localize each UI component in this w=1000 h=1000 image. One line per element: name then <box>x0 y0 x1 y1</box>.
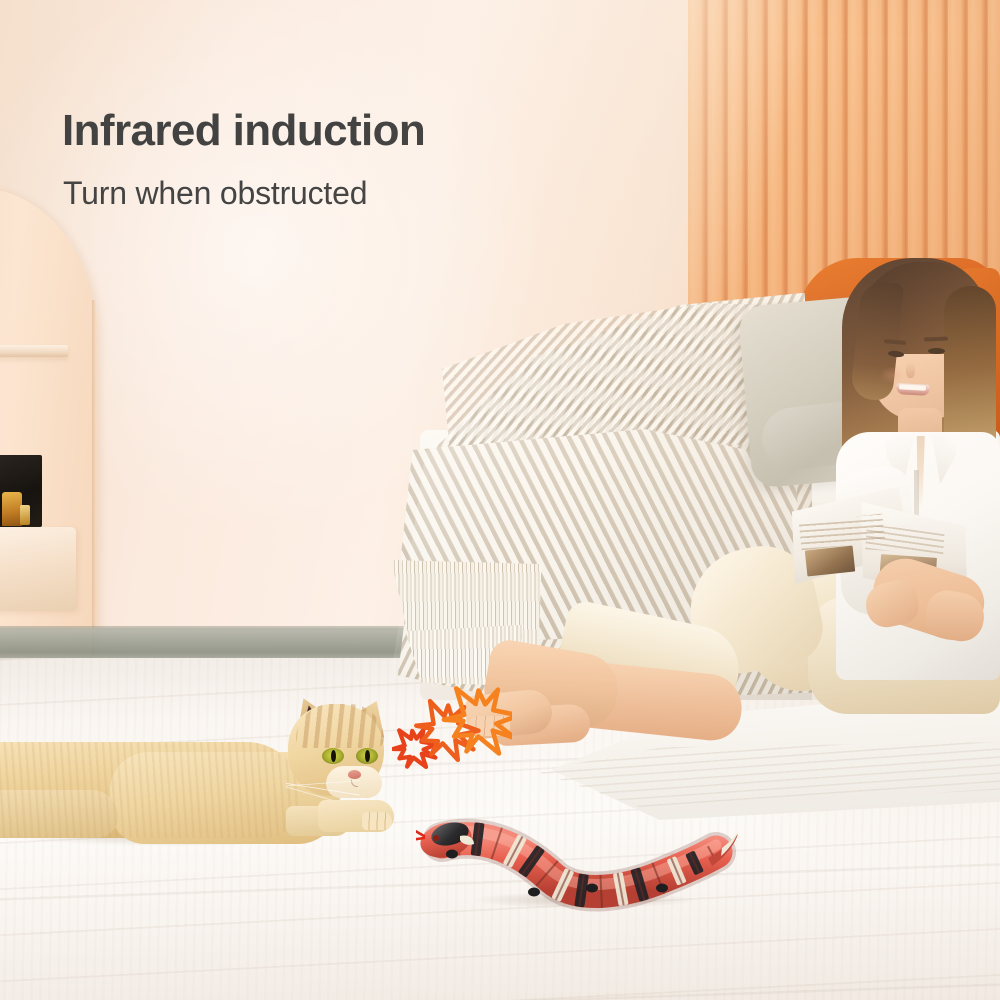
snake-eye <box>433 835 439 841</box>
page-subtitle: Turn when obstructed <box>63 175 367 212</box>
burst-large <box>442 686 512 756</box>
woman-eye-right <box>928 348 945 354</box>
niche-decor-object <box>2 492 22 526</box>
snake-toy-graphic <box>416 796 746 926</box>
magazine-photo-left <box>805 546 855 577</box>
snake-wheel-3 <box>586 884 598 893</box>
burst-small <box>392 727 439 771</box>
cat-pupil-right <box>365 750 370 762</box>
page-title: Infrared induction <box>62 106 425 156</box>
product-lifestyle-image: Infrared induction Turn when obstructed <box>0 0 1000 1000</box>
infrared-burst-icon <box>392 686 512 784</box>
cat-pupil-left <box>331 750 336 762</box>
snake-wheel-1 <box>446 850 458 859</box>
alcove-shelf <box>0 345 68 357</box>
snake-wheel-2 <box>528 888 540 897</box>
infrared-sensing-burst-group <box>392 686 512 784</box>
woman-eyebrow-right <box>924 337 948 342</box>
cat-fur-texture <box>0 742 302 838</box>
cat-paw-toes <box>362 812 392 830</box>
snake-tongue <box>416 828 424 840</box>
woman-nose <box>906 362 915 378</box>
alcove-edge-shadow <box>92 300 96 660</box>
snake-wheel-4 <box>656 884 668 893</box>
alcove-lower-ledge <box>0 527 76 611</box>
woman-cheek-blush <box>880 366 904 384</box>
niche-decor-object-small <box>20 505 30 525</box>
snake-toy <box>416 796 746 926</box>
